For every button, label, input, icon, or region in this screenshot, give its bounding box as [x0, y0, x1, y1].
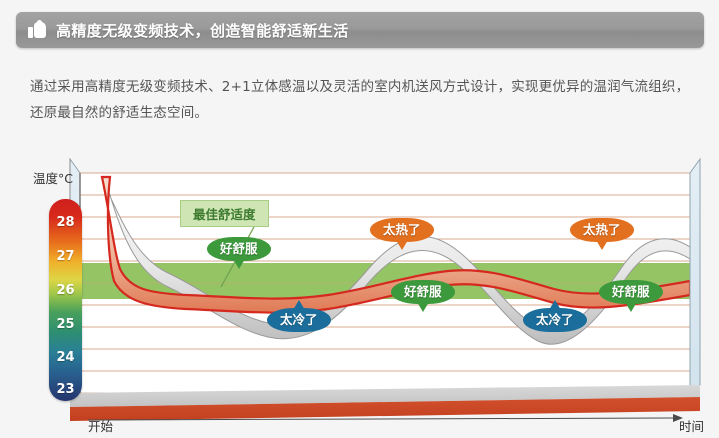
- comfort-chart: 好舒服 太热了 太冷了 好舒服 太热了 太冷了 好舒服: [18, 155, 708, 430]
- callout-too-cold-2: 太冷了: [523, 308, 587, 332]
- page-root: 高精度无级变频技术，创造智能舒适新生活 通过采用高精度无级变频技术、2+1立体感…: [0, 0, 719, 438]
- chart-right-wall: [690, 159, 700, 393]
- comfort-band-label: 最佳舒适度: [180, 200, 269, 227]
- callout-too-cold-1: 太冷了: [267, 308, 331, 332]
- section-header: 高精度无级变频技术，创造智能舒适新生活: [16, 12, 704, 48]
- temp-tick-24: 24: [49, 350, 82, 365]
- x-axis-end-label: 时间: [679, 416, 704, 435]
- callout-comfortable-2: 好舒服: [391, 280, 455, 304]
- temp-tick-26: 26: [49, 283, 82, 298]
- temp-tick-25: 25: [49, 317, 82, 332]
- temperature-scale: 28 27 26 25 24 23: [49, 199, 82, 401]
- callout-too-hot-1: 太热了: [370, 218, 434, 242]
- y-axis-title: 温度°C: [33, 168, 73, 187]
- callout-comfortable-3: 好舒服: [599, 280, 663, 304]
- temp-tick-27: 27: [49, 249, 82, 264]
- callout-comfortable-1: 好舒服: [207, 237, 271, 261]
- body-paragraph: 通过采用高精度无级变频技术、2+1立体感温以及灵活的室内机送风方式设计，实现更优…: [30, 74, 690, 126]
- thumbs-up-icon: [28, 21, 47, 40]
- temp-tick-28: 28: [49, 215, 82, 230]
- callout-too-hot-2: 太热了: [570, 218, 634, 242]
- page-title: 高精度无级变频技术，创造智能舒适新生活: [56, 20, 349, 41]
- temp-tick-23: 23: [49, 382, 82, 397]
- x-axis-start-label: 开始: [88, 416, 113, 435]
